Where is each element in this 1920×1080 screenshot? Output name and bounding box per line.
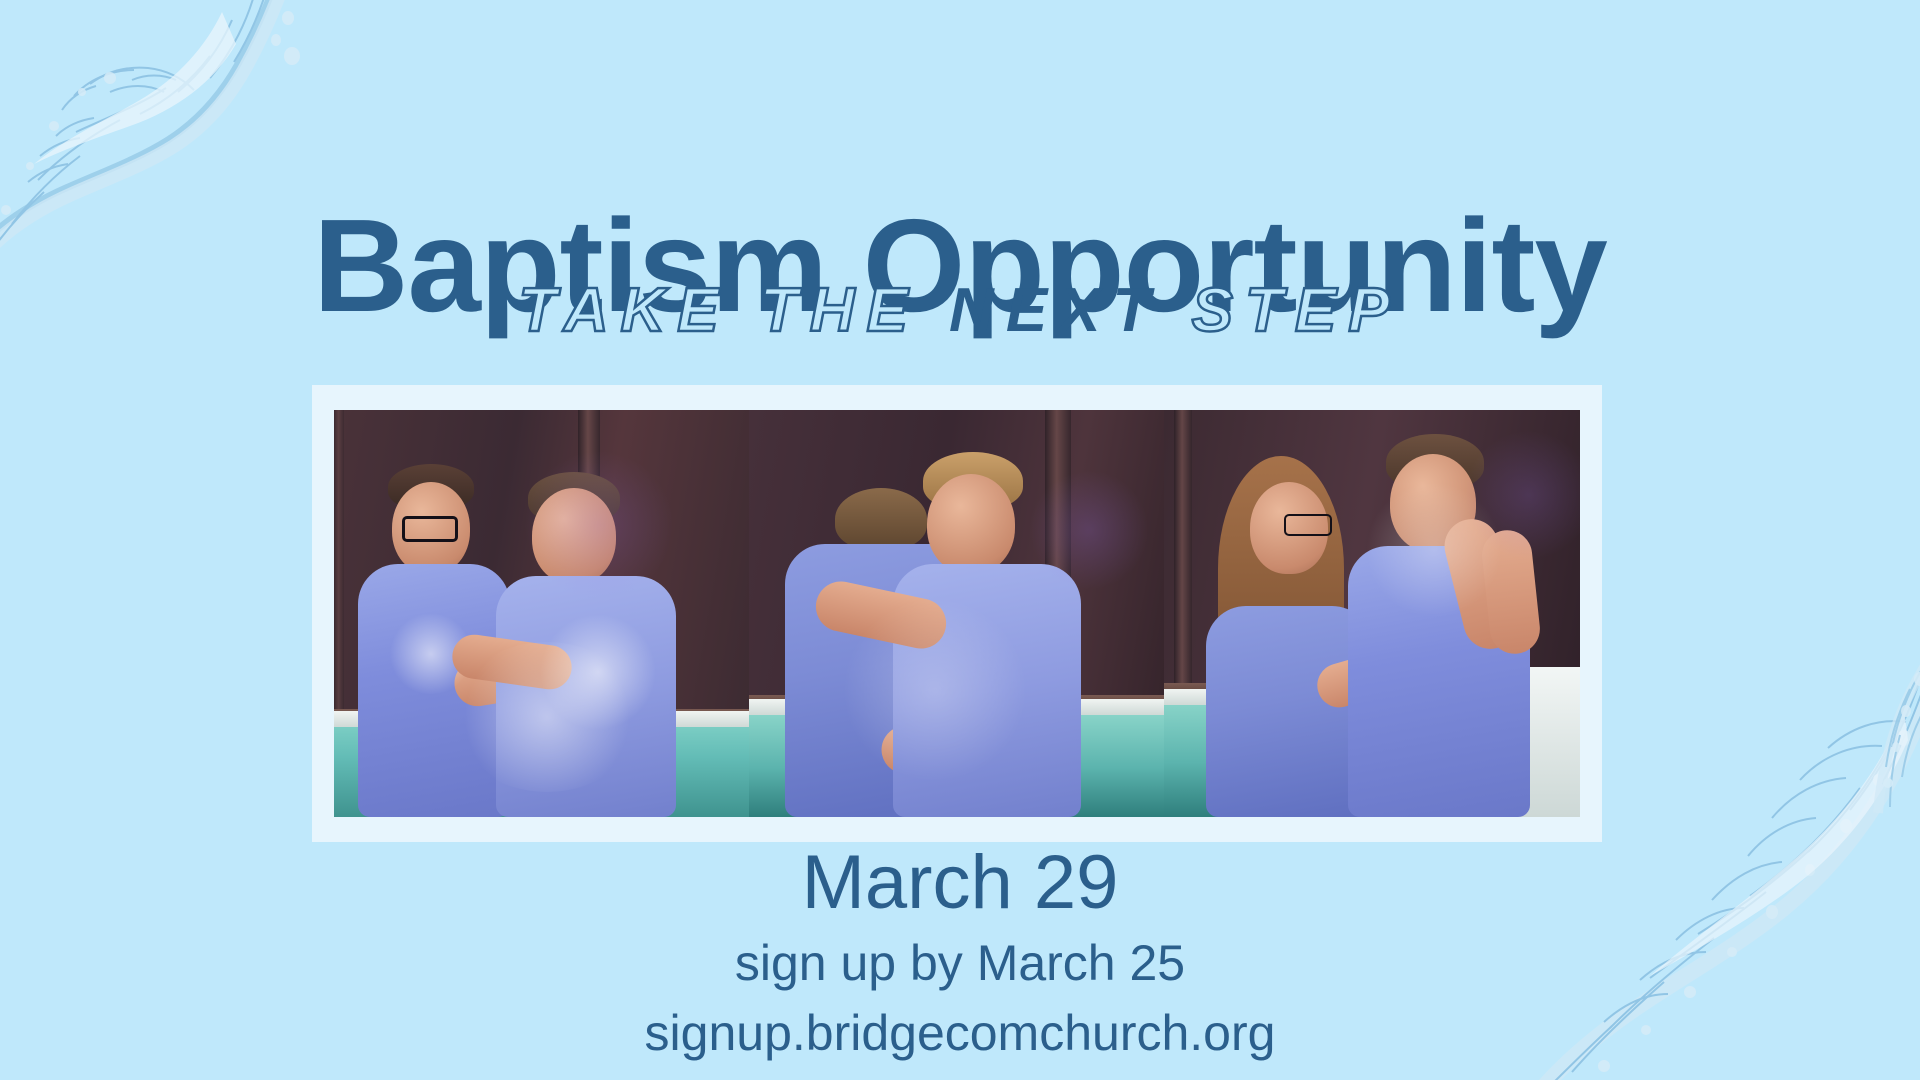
collage-photo-2 [749, 410, 1164, 817]
subtitle: TAKE THE NEXT STEP [0, 280, 1920, 342]
signup-url[interactable]: signup.bridgecomchurch.org [0, 1008, 1920, 1058]
photo-collage-frame [312, 385, 1602, 842]
subtitle-emphasis-next: NEXT [949, 276, 1162, 345]
poster-canvas: Baptism Opportunity TAKE THE NEXT STEP [0, 0, 1920, 1080]
collage-photo-3 [1164, 410, 1580, 817]
photo-collage [334, 410, 1580, 817]
water-splash-icon [1780, 655, 1920, 815]
signup-deadline: sign up by March 25 [0, 938, 1920, 988]
event-date: March 29 [0, 845, 1920, 921]
collage-photo-1 [334, 410, 749, 817]
subtitle-part-1: TAKE THE [518, 276, 949, 345]
subtitle-part-2: STEP [1162, 276, 1401, 345]
